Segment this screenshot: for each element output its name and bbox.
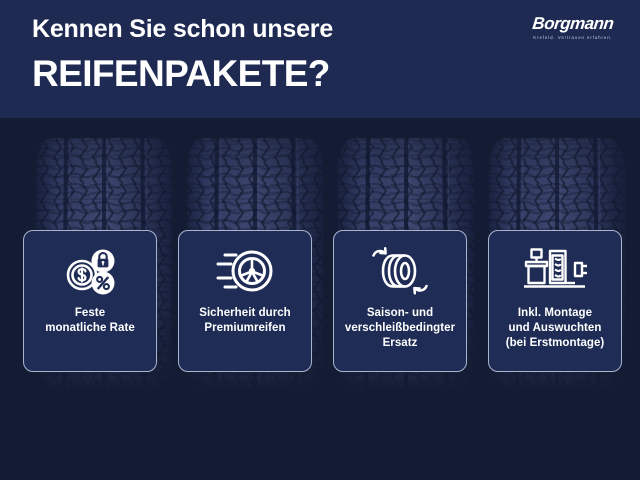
headline-group: Kennen Sie schon unsere REIFENPAKETE? bbox=[32, 12, 333, 98]
feature-card-label: Sicherheit durch Premiumreifen bbox=[193, 306, 297, 336]
logo-tagline: Krefeld. Vertrauen erfahren. bbox=[520, 34, 626, 41]
logo-wordmark: Borgmann bbox=[519, 14, 627, 33]
feature-card-label: Feste monatliche Rate bbox=[39, 306, 141, 336]
tire-swap-icon bbox=[369, 245, 431, 297]
headline-line-1: Kennen Sie schon unsere bbox=[32, 12, 333, 46]
feature-card-feste-monatliche-rate[interactable]: Feste monatliche Rate bbox=[23, 230, 157, 372]
poster-canvas: Kennen Sie schon unsere REIFENPAKETE? Bo… bbox=[0, 0, 640, 480]
coin-lock-percent-icon bbox=[61, 245, 119, 297]
feature-card-label: Saison- und verschleißbedingter Ersatz bbox=[339, 306, 461, 351]
feature-card-inkl-montage-und-auswuchten[interactable]: Inkl. Montage und Auswuchten (bei Erstmo… bbox=[488, 230, 622, 372]
feature-card-label: Inkl. Montage und Auswuchten (bei Erstmo… bbox=[500, 306, 611, 351]
feature-card-saison-und-verschleissbedingter-ersatz[interactable]: Saison- und verschleißbedingter Ersatz bbox=[333, 230, 467, 372]
borgmann-logo: Borgmann Krefeld. Vertrauen erfahren. bbox=[520, 14, 626, 46]
feature-card-sicherheit-durch-premiumreifen[interactable]: Sicherheit durch Premiumreifen bbox=[178, 230, 312, 372]
page-title: REIFENPAKETE? bbox=[32, 50, 333, 98]
tire-mounting-machine-icon bbox=[519, 245, 591, 297]
tire-speed-icon bbox=[214, 245, 276, 297]
header-bar: Kennen Sie schon unsere REIFENPAKETE? Bo… bbox=[0, 0, 640, 118]
